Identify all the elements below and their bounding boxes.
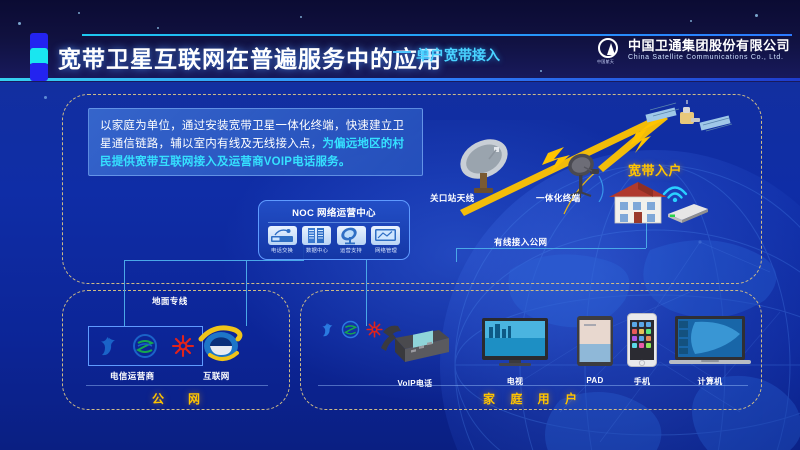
network-monitor-icon bbox=[371, 226, 400, 245]
noc-item-switchboard[interactable]: 电话交换 bbox=[266, 226, 298, 254]
noc-item-label: 运营支持 bbox=[336, 246, 366, 254]
china-telecom-logo bbox=[318, 321, 336, 339]
star-dot bbox=[157, 27, 159, 29]
label-integrated-terminal: 一体化终端 bbox=[536, 192, 581, 204]
page-subtitle: 单户宽带接入 bbox=[416, 45, 500, 65]
connector-noc-to-voip bbox=[366, 260, 367, 326]
star-dot bbox=[78, 12, 80, 14]
description-panel: 以家庭为单位，通过安装宽带卫星一体化终端，快速建立卫星通信链路，辅以室内有线及无… bbox=[88, 108, 423, 176]
gateway-antenna-icon bbox=[456, 135, 518, 197]
laptop-icon bbox=[667, 314, 753, 368]
home-users-title: 家 庭 用 户 bbox=[483, 390, 583, 407]
noc-divider bbox=[268, 222, 400, 223]
noc-item-label: 电话交换 bbox=[267, 246, 297, 254]
noc-item-label: 数据中心 bbox=[301, 246, 331, 254]
star-dot bbox=[540, 70, 542, 72]
china-telecom-logo bbox=[95, 334, 120, 359]
company-name-en: China Satellite Communications Co., Ltd. bbox=[628, 53, 790, 63]
noc-item-operations[interactable]: 运营支持 bbox=[335, 226, 367, 254]
china-unicom-logo bbox=[170, 333, 196, 359]
tablet-icon bbox=[575, 314, 615, 368]
device-laptop[interactable]: 计算机 bbox=[664, 314, 756, 387]
television-icon bbox=[479, 316, 551, 368]
star-dot bbox=[300, 16, 302, 18]
noc-title: NOC 网络运营中心 bbox=[259, 205, 409, 219]
company-name-cn: 中国卫通集团股份有限公司 bbox=[628, 38, 790, 53]
device-label: VoIP电话 bbox=[376, 378, 454, 389]
voip-phone-icon bbox=[379, 318, 451, 370]
label-gateway-antenna: 关口站天线 bbox=[430, 192, 475, 204]
antenna-icon bbox=[337, 226, 366, 245]
device-smartphone[interactable]: 手机 bbox=[616, 312, 668, 387]
home-zone-rule bbox=[318, 385, 748, 386]
public-network-title: 公 网 bbox=[152, 390, 206, 407]
home-carrier-logos bbox=[318, 320, 384, 339]
connector-wired-public-drop bbox=[456, 248, 457, 262]
star-dot bbox=[755, 14, 758, 17]
label-telecom-carriers: 电信运营商 bbox=[110, 370, 155, 382]
noc-item-label: 网络管理 bbox=[371, 246, 401, 254]
label-ground-leased-line: 地面专线 bbox=[152, 295, 188, 307]
public-zone-rule bbox=[86, 385, 268, 386]
title-separator-dash bbox=[393, 51, 411, 53]
connector-wired-public bbox=[456, 248, 646, 249]
noc-item-datacenter[interactable]: 数据中心 bbox=[301, 226, 333, 254]
router-icon bbox=[664, 200, 710, 224]
emblem-caption: 中国航天 bbox=[597, 59, 614, 65]
star-dot bbox=[44, 96, 47, 99]
header-square-bottom bbox=[30, 63, 48, 81]
internet-explorer-icon bbox=[198, 322, 244, 368]
slide-canvas: 宽带卫星互联网在普遍服务中的应用 单户宽带接入 中国航天 中国卫通集团股份有限公… bbox=[0, 0, 800, 450]
wifi-icon bbox=[660, 176, 690, 202]
star-dot bbox=[18, 22, 21, 25]
page-title: 宽带卫星互联网在普遍服务中的应用 bbox=[58, 40, 442, 74]
china-mobile-logo bbox=[341, 320, 360, 339]
connector-horizontal-left bbox=[124, 260, 304, 261]
device-voip-phone[interactable]: VoIP电话 bbox=[376, 318, 454, 389]
connector-noc-to-internet bbox=[246, 260, 247, 326]
connector-noc-to-carriers bbox=[124, 260, 125, 326]
label-internet: 互联网 bbox=[203, 370, 230, 382]
noc-panel[interactable]: NOC 网络运营中心 电话交换 bbox=[258, 200, 410, 260]
datacenter-icon bbox=[302, 226, 331, 245]
telecom-carriers-box bbox=[88, 326, 203, 366]
device-television[interactable]: 电视 bbox=[476, 316, 554, 387]
smartphone-icon bbox=[626, 312, 658, 368]
noc-item-network-mgmt[interactable]: 网络管理 bbox=[370, 226, 402, 254]
header-top-rule bbox=[82, 34, 792, 36]
header-bottom-rule bbox=[0, 78, 800, 81]
company-logo: 中国航天 中国卫通集团股份有限公司 China Satellite Commun… bbox=[597, 38, 790, 64]
satellite-icon bbox=[640, 98, 736, 142]
csat-emblem-icon: 中国航天 bbox=[597, 38, 623, 64]
star-dot bbox=[690, 20, 692, 22]
china-mobile-logo bbox=[132, 333, 158, 359]
switchboard-icon bbox=[268, 226, 297, 245]
